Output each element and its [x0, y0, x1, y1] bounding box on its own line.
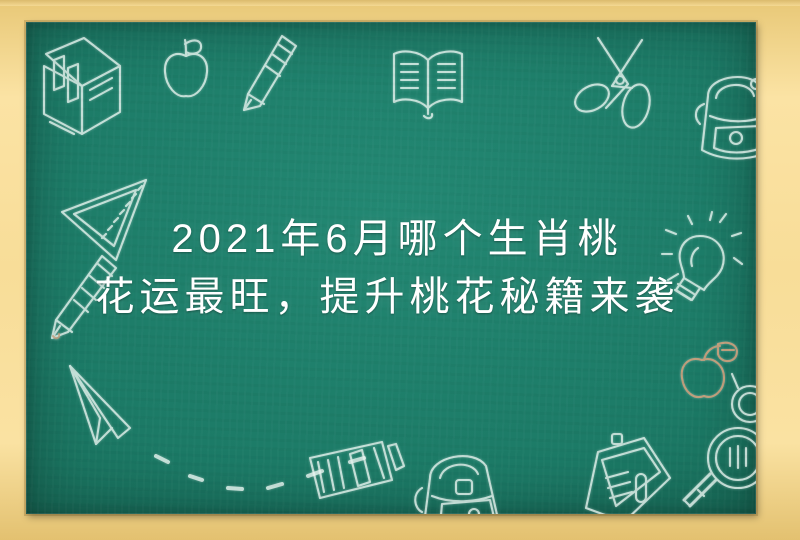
headline-block: 2021年6月哪个生肖桃 花运最旺，提升桃花秘籍来袭 [26, 22, 756, 514]
wooden-frame: 2021年6月哪个生肖桃 花运最旺，提升桃花秘籍来袭 [0, 0, 800, 540]
headline-line-2: 花运最旺，提升桃花秘籍来袭 [95, 275, 680, 319]
headline-line-1: 2021年6月哪个生肖桃 [171, 217, 622, 261]
